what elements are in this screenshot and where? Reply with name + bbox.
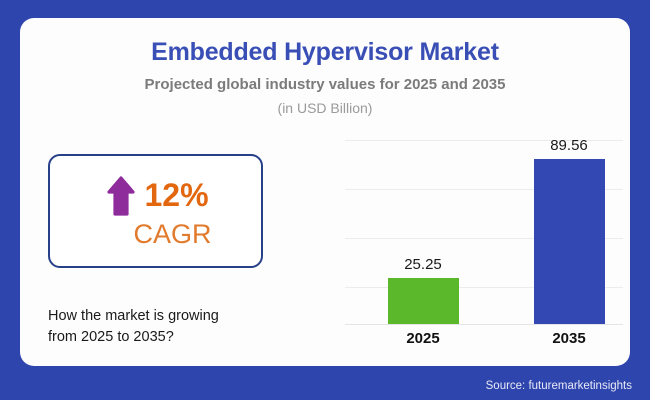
- infographic-frame: Embedded Hypervisor Market Projected glo…: [0, 0, 650, 400]
- bar-2025[interactable]: [388, 278, 459, 324]
- axis-baseline: [345, 324, 623, 325]
- growth-caption: How the market is growing from 2025 to 2…: [48, 306, 298, 348]
- content-card: Embedded Hypervisor Market Projected glo…: [20, 18, 630, 366]
- category-label-2025: 2025: [373, 330, 473, 347]
- bar-value-2025: 25.25: [373, 256, 473, 273]
- source-attribution: Source: futuremarketinsights: [486, 380, 632, 392]
- bar-chart: 25.25 89.56 2025 2035: [345, 140, 623, 325]
- cagr-value-row: 12%: [50, 172, 265, 218]
- arrow-up-icon: [106, 174, 136, 216]
- caption-line-1: How the market is growing: [48, 306, 298, 327]
- cagr-label: CAGR: [50, 220, 265, 250]
- cagr-badge: 12% CAGR: [48, 154, 263, 268]
- bar-2035[interactable]: [534, 159, 605, 324]
- page-title: Embedded Hypervisor Market: [20, 38, 630, 67]
- caption-line-2: from 2025 to 2035?: [48, 327, 298, 348]
- bar-value-2035: 89.56: [519, 137, 619, 154]
- cagr-value: 12%: [144, 179, 208, 211]
- category-label-2035: 2035: [519, 330, 619, 347]
- units-label: (in USD Billion): [20, 100, 630, 116]
- page-subtitle: Projected global industry values for 202…: [20, 76, 630, 93]
